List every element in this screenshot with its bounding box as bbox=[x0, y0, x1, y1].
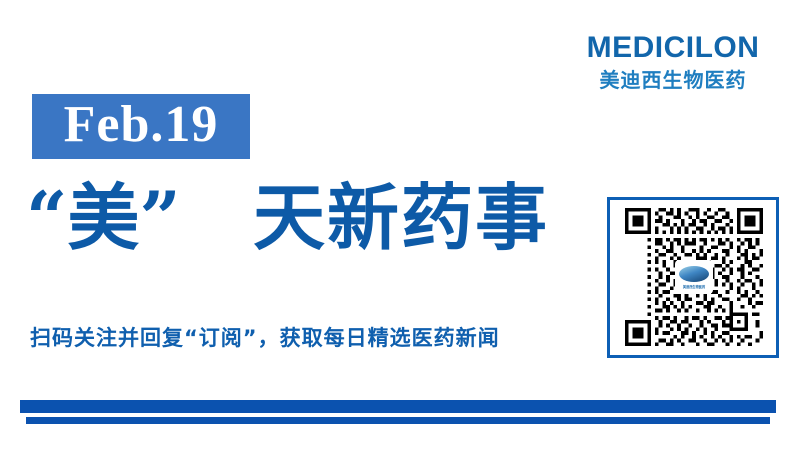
decorative-rule-thick bbox=[20, 400, 776, 413]
qr-code-icon[interactable]: 美迪西生物医药 bbox=[622, 208, 766, 346]
qr-code-frame[interactable]: 美迪西生物医药 bbox=[607, 197, 779, 358]
page-title-rest: 天新药事 bbox=[253, 175, 549, 260]
page-title-quoted-part: “美” bbox=[26, 175, 181, 260]
brand-subtitle: 美迪西生物医药 bbox=[568, 70, 778, 90]
decorative-rule-thin bbox=[26, 417, 770, 424]
brand-logo: MEDICILON 美迪西生物医药 bbox=[568, 33, 778, 90]
poster-canvas: MEDICILON 美迪西生物医药 Feb.19 “美” 天新药事 扫码关注并回… bbox=[0, 0, 800, 468]
call-to-action-text: 扫码关注并回复“订阅”，获取每日精选医药新闻 bbox=[30, 326, 500, 351]
page-title: “美” 天新药事 bbox=[26, 182, 549, 254]
qr-center-logo-oval bbox=[679, 266, 709, 282]
qr-center-logo-label: 美迪西生物医药 bbox=[683, 284, 705, 289]
date-badge: Feb.19 bbox=[32, 94, 250, 159]
brand-name: MEDICILON bbox=[568, 33, 778, 63]
qr-center-logo-badge: 美迪西生物医药 bbox=[675, 260, 713, 294]
